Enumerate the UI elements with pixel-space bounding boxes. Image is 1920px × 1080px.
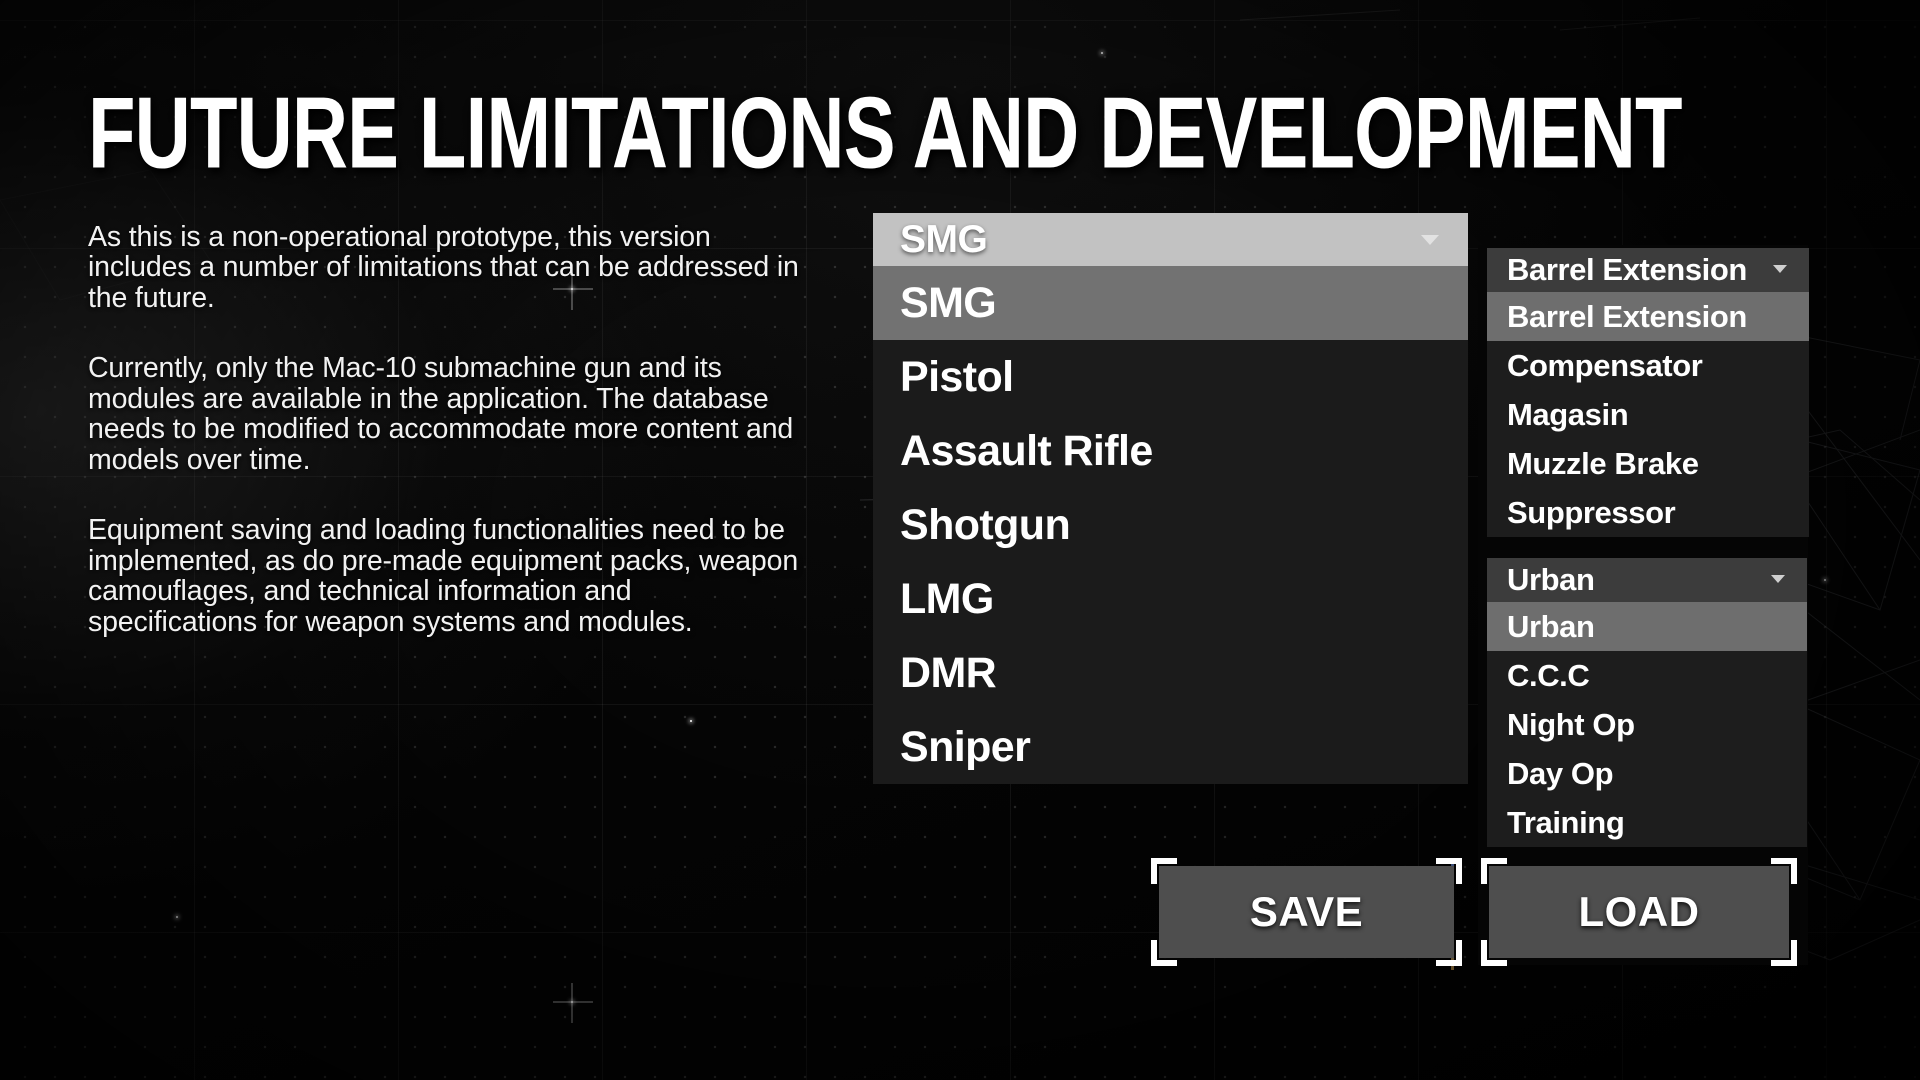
module-slot-dropdown-header[interactable]: Barrel Extension: [1487, 248, 1809, 292]
environment-selected-value: Urban: [1507, 562, 1595, 598]
body-copy: As this is a non-operational prototype, …: [88, 222, 800, 637]
module-option-suppressor[interactable]: Suppressor: [1487, 488, 1809, 537]
module-option-compensator[interactable]: Compensator: [1487, 341, 1809, 390]
environment-dropdown[interactable]: Urban Urban C.C.C Night Op Day Op Traini…: [1487, 558, 1807, 847]
weapon-class-option-list[interactable]: SMG Pistol Assault Rifle Shotgun LMG DMR…: [873, 266, 1468, 784]
module-option-magasin[interactable]: Magasin: [1487, 390, 1809, 439]
module-option-barrel-extension[interactable]: Barrel Extension: [1487, 292, 1809, 341]
page-title: FUTURE LIMITATIONS AND DEVELOPMENT: [88, 86, 1682, 182]
weapon-class-dropdown[interactable]: SMG SMG Pistol Assault Rifle Shotgun LMG…: [873, 213, 1468, 784]
module-slot-dropdown[interactable]: Barrel Extension Barrel Extension Compen…: [1487, 248, 1809, 537]
slide-canvas: FUTURE LIMITATIONS AND DEVELOPMENT As th…: [0, 0, 1920, 1080]
weapon-class-option-shotgun[interactable]: Shotgun: [873, 488, 1468, 562]
module-slot-selected-value: Barrel Extension: [1507, 252, 1747, 288]
weapon-class-option-smg[interactable]: SMG: [873, 266, 1468, 340]
weapon-class-option-sniper[interactable]: Sniper: [873, 710, 1468, 784]
save-button[interactable]: SAVE: [1159, 866, 1454, 958]
weapon-class-option-lmg[interactable]: LMG: [873, 562, 1468, 636]
environment-option-ccc[interactable]: C.C.C: [1487, 651, 1807, 700]
chevron-down-icon: [1771, 575, 1785, 583]
chevron-down-icon: [1773, 265, 1787, 273]
weapon-class-option-dmr[interactable]: DMR: [873, 636, 1468, 710]
load-button-label: LOAD: [1579, 888, 1700, 936]
environment-option-urban[interactable]: Urban: [1487, 602, 1807, 651]
weapon-class-selected-value: SMG: [900, 218, 987, 262]
chevron-down-icon: [1421, 235, 1439, 245]
weapon-class-option-assault-rifle[interactable]: Assault Rifle: [873, 414, 1468, 488]
environment-dropdown-header[interactable]: Urban: [1487, 558, 1807, 602]
paragraph-roadmap: Equipment saving and loading functionali…: [88, 515, 800, 637]
weapon-class-dropdown-header[interactable]: SMG: [873, 213, 1468, 266]
load-button[interactable]: LOAD: [1489, 866, 1789, 958]
weapon-class-option-pistol[interactable]: Pistol: [873, 340, 1468, 414]
save-button-label: SAVE: [1250, 888, 1363, 936]
module-slot-option-list[interactable]: Barrel Extension Compensator Magasin Muz…: [1487, 292, 1809, 537]
module-option-muzzle-brake[interactable]: Muzzle Brake: [1487, 439, 1809, 488]
paragraph-content-scope: Currently, only the Mac-10 submachine gu…: [88, 353, 800, 475]
environment-option-night-op[interactable]: Night Op: [1487, 700, 1807, 749]
environment-option-day-op[interactable]: Day Op: [1487, 749, 1807, 798]
environment-option-list[interactable]: Urban C.C.C Night Op Day Op Training: [1487, 602, 1807, 847]
environment-option-training[interactable]: Training: [1487, 798, 1807, 847]
paragraph-limitations: As this is a non-operational prototype, …: [88, 222, 800, 313]
